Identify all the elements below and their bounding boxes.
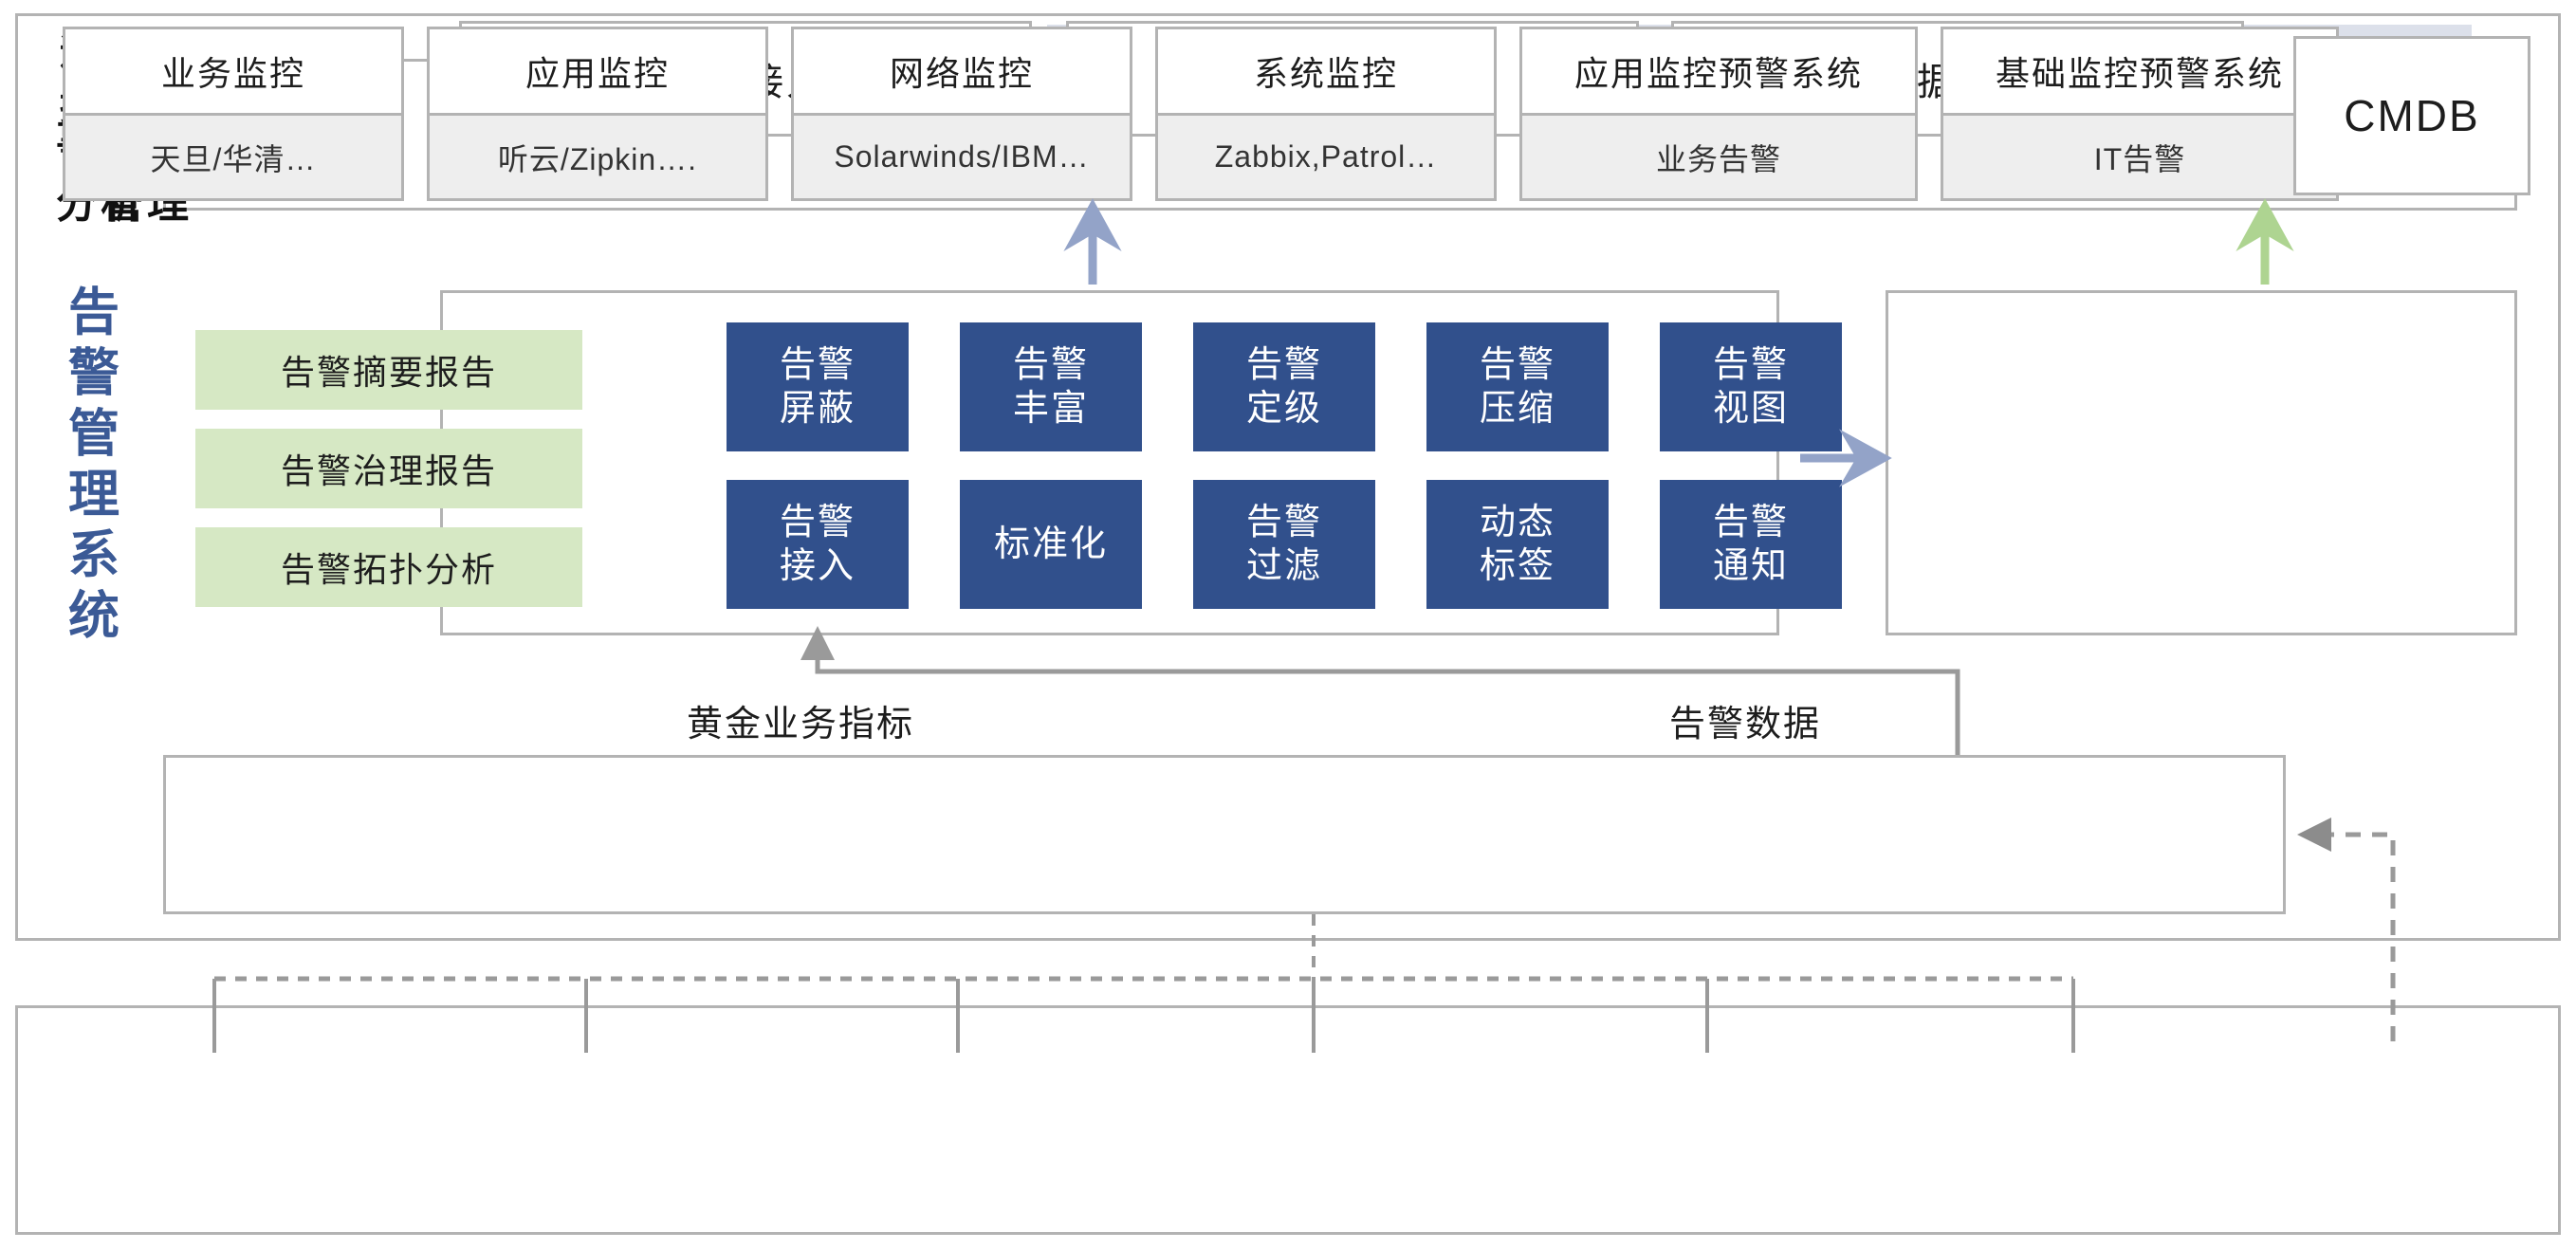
- source-name: 基础监控预警系统: [1943, 29, 2336, 113]
- source-tools: 听云/Zipkin….: [430, 113, 765, 198]
- source-card-app-monitoring-alert-system[interactable]: 应用监控预警系统 业务告警: [1519, 27, 1918, 201]
- tile-line1: 告警: [1246, 501, 1322, 544]
- source-card-cmdb[interactable]: CMDB: [2293, 36, 2530, 195]
- diagram-canvas: 告警管理系统 事件可视 实时列表展示 历史列表展示 告警分析报告 大屏/驾驶舱 …: [0, 0, 2576, 1250]
- source-card-system-monitoring[interactable]: 系统监控 Zabbix,Patrol…: [1155, 27, 1497, 201]
- source-name: 应用监控预警系统: [1522, 29, 1915, 113]
- report-chip-label: 告警治理报告: [281, 444, 497, 493]
- source-tools: IT告警: [1943, 113, 2336, 198]
- tile-line2: 定级: [1246, 387, 1322, 431]
- system-title: 告警管理系统: [46, 267, 133, 666]
- source-card-network-monitoring[interactable]: 网络监控 Solarwinds/IBM…: [791, 27, 1132, 201]
- tile-line2: 压缩: [1480, 387, 1555, 431]
- tile-line2: 视图: [1713, 387, 1789, 431]
- tile-alarm-ingestion[interactable]: 告警 接入: [727, 480, 909, 609]
- source-name: 业务监控: [65, 29, 401, 113]
- report-chip-alarm-governance[interactable]: 告警治理报告: [195, 429, 582, 508]
- tile-line1: 告警: [780, 501, 856, 544]
- source-name: 应用监控: [430, 29, 765, 113]
- tile-alarm-suppression[interactable]: 告警 屏蔽: [727, 322, 909, 451]
- ops-data-management-panel: [163, 755, 2286, 914]
- tile-line2: 标签: [1480, 544, 1555, 588]
- tile-line1: 动态: [1480, 501, 1555, 544]
- monitoring-sources-frame: [15, 1005, 2561, 1235]
- report-chip-label: 告警拓扑分析: [281, 542, 497, 592]
- tile-alarm-enrichment[interactable]: 告警 丰富: [960, 322, 1142, 451]
- tile-alarm-view[interactable]: 告警 视图: [1660, 322, 1842, 451]
- source-name: 网络监控: [794, 29, 1130, 113]
- source-card-application-monitoring[interactable]: 应用监控 听云/Zipkin….: [427, 27, 768, 201]
- tile-alarm-filter[interactable]: 告警 过滤: [1193, 480, 1375, 609]
- tile-line1: 告警: [1246, 343, 1322, 387]
- tile-line1: 告警: [1713, 343, 1789, 387]
- source-card-infra-monitoring-alert-system[interactable]: 基础监控预警系统 IT告警: [1941, 27, 2339, 201]
- source-card-business-monitoring[interactable]: 业务监控 天旦/华清…: [63, 27, 404, 201]
- tile-line1: 告警: [780, 343, 856, 387]
- report-chip-alarm-summary[interactable]: 告警摘要报告: [195, 330, 582, 410]
- tile-dynamic-tag[interactable]: 动态 标签: [1426, 480, 1609, 609]
- report-chip-label: 告警摘要报告: [281, 345, 497, 395]
- tile-alarm-notification[interactable]: 告警 通知: [1660, 480, 1842, 609]
- tile-line1: 告警: [1713, 501, 1789, 544]
- tile-alarm-grading[interactable]: 告警 定级: [1193, 322, 1375, 451]
- tile-alarm-compression[interactable]: 告警 压缩: [1426, 322, 1609, 451]
- tile-line1: 告警: [1480, 343, 1555, 387]
- connector-label-golden-metrics: 黄金业务指标: [687, 694, 914, 746]
- connector-label-alarm-data: 告警数据: [1669, 694, 1821, 746]
- source-name: 系统监控: [1158, 29, 1494, 113]
- source-tools: 天旦/华清…: [65, 113, 401, 198]
- tile-line1: 告警: [1013, 343, 1089, 387]
- tile-line2: 丰富: [1013, 387, 1089, 431]
- event-analysis-panel: [1886, 290, 2517, 635]
- tile-line2: 通知: [1713, 544, 1789, 588]
- tile-line2: 接入: [780, 544, 856, 588]
- tile-line1: 标准化: [994, 523, 1108, 566]
- source-tools: Solarwinds/IBM…: [794, 113, 1130, 198]
- cmdb-label: CMDB: [2344, 90, 2479, 141]
- source-tools: 业务告警: [1522, 113, 1915, 198]
- tile-line2: 过滤: [1246, 544, 1322, 588]
- tile-line2: 屏蔽: [780, 387, 856, 431]
- tile-standardization[interactable]: 标准化: [960, 480, 1142, 609]
- report-chip-alarm-topology[interactable]: 告警拓扑分析: [195, 527, 582, 607]
- source-tools: Zabbix,Patrol…: [1158, 113, 1494, 198]
